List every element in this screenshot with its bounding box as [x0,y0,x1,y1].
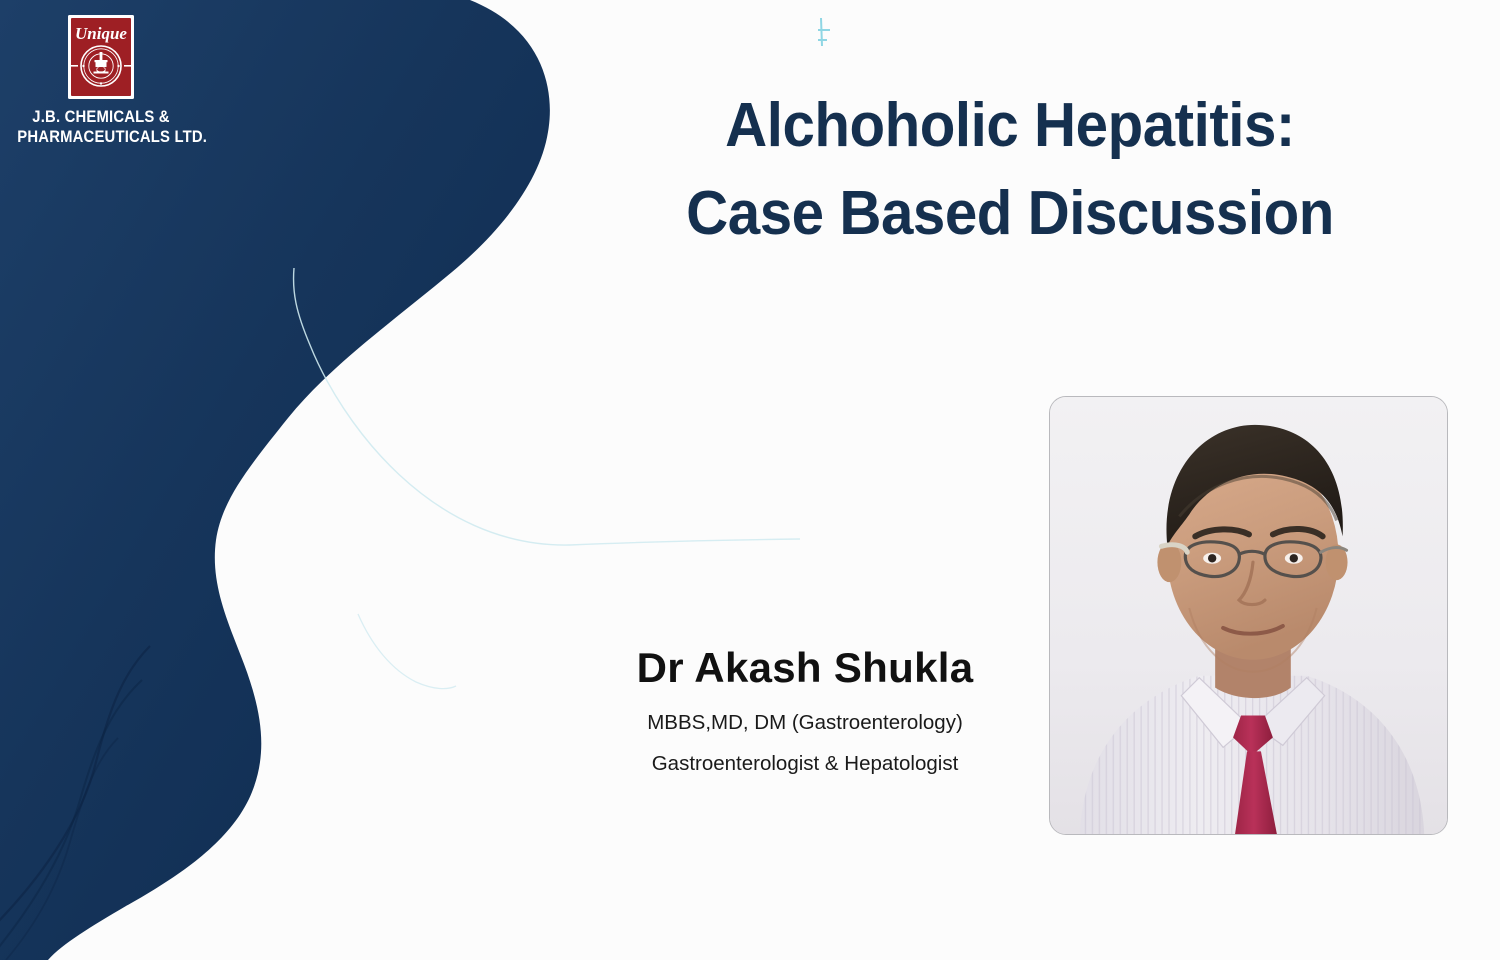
hairline-arc-3 [358,614,456,689]
unique-seal-icon: Unique [67,14,135,100]
speaker-specialty: Gastroenterologist & Hepatologist [570,751,1040,778]
company-logo: Unique J.B. CHEMICALS & PHARMACEUTICALS … [8,14,194,147]
speaker-degrees: MBBS,MD, DM (Gastroenterology) [570,710,1040,737]
slide-title: Alchoholic Hepatitis: Case Based Discuss… [560,82,1460,258]
svg-text:Unique: Unique [75,24,127,43]
hairline-speck [818,18,830,46]
title-line-1: Alchoholic Hepatitis: [587,82,1433,170]
company-line-2: PHARMACEUTICALS LTD. [17,127,184,147]
company-wordmark: J.B. CHEMICALS & PHARMACEUTICALS LTD. [17,107,184,147]
speaker-name: Dr Akash Shukla [570,646,1040,690]
title-line-2: Case Based Discussion [587,170,1433,258]
speaker-portrait-frame [1049,396,1448,835]
speaker-info: Dr Akash Shukla MBBS,MD, DM (Gastroenter… [570,646,1040,777]
presentation-slide: Unique J.B. CHEMICALS & PHARMACEUTICALS … [0,0,1500,960]
company-line-1: J.B. CHEMICALS & [17,107,184,127]
hairline-arc-2 [570,539,800,545]
speaker-portrait-photo [1050,397,1447,834]
